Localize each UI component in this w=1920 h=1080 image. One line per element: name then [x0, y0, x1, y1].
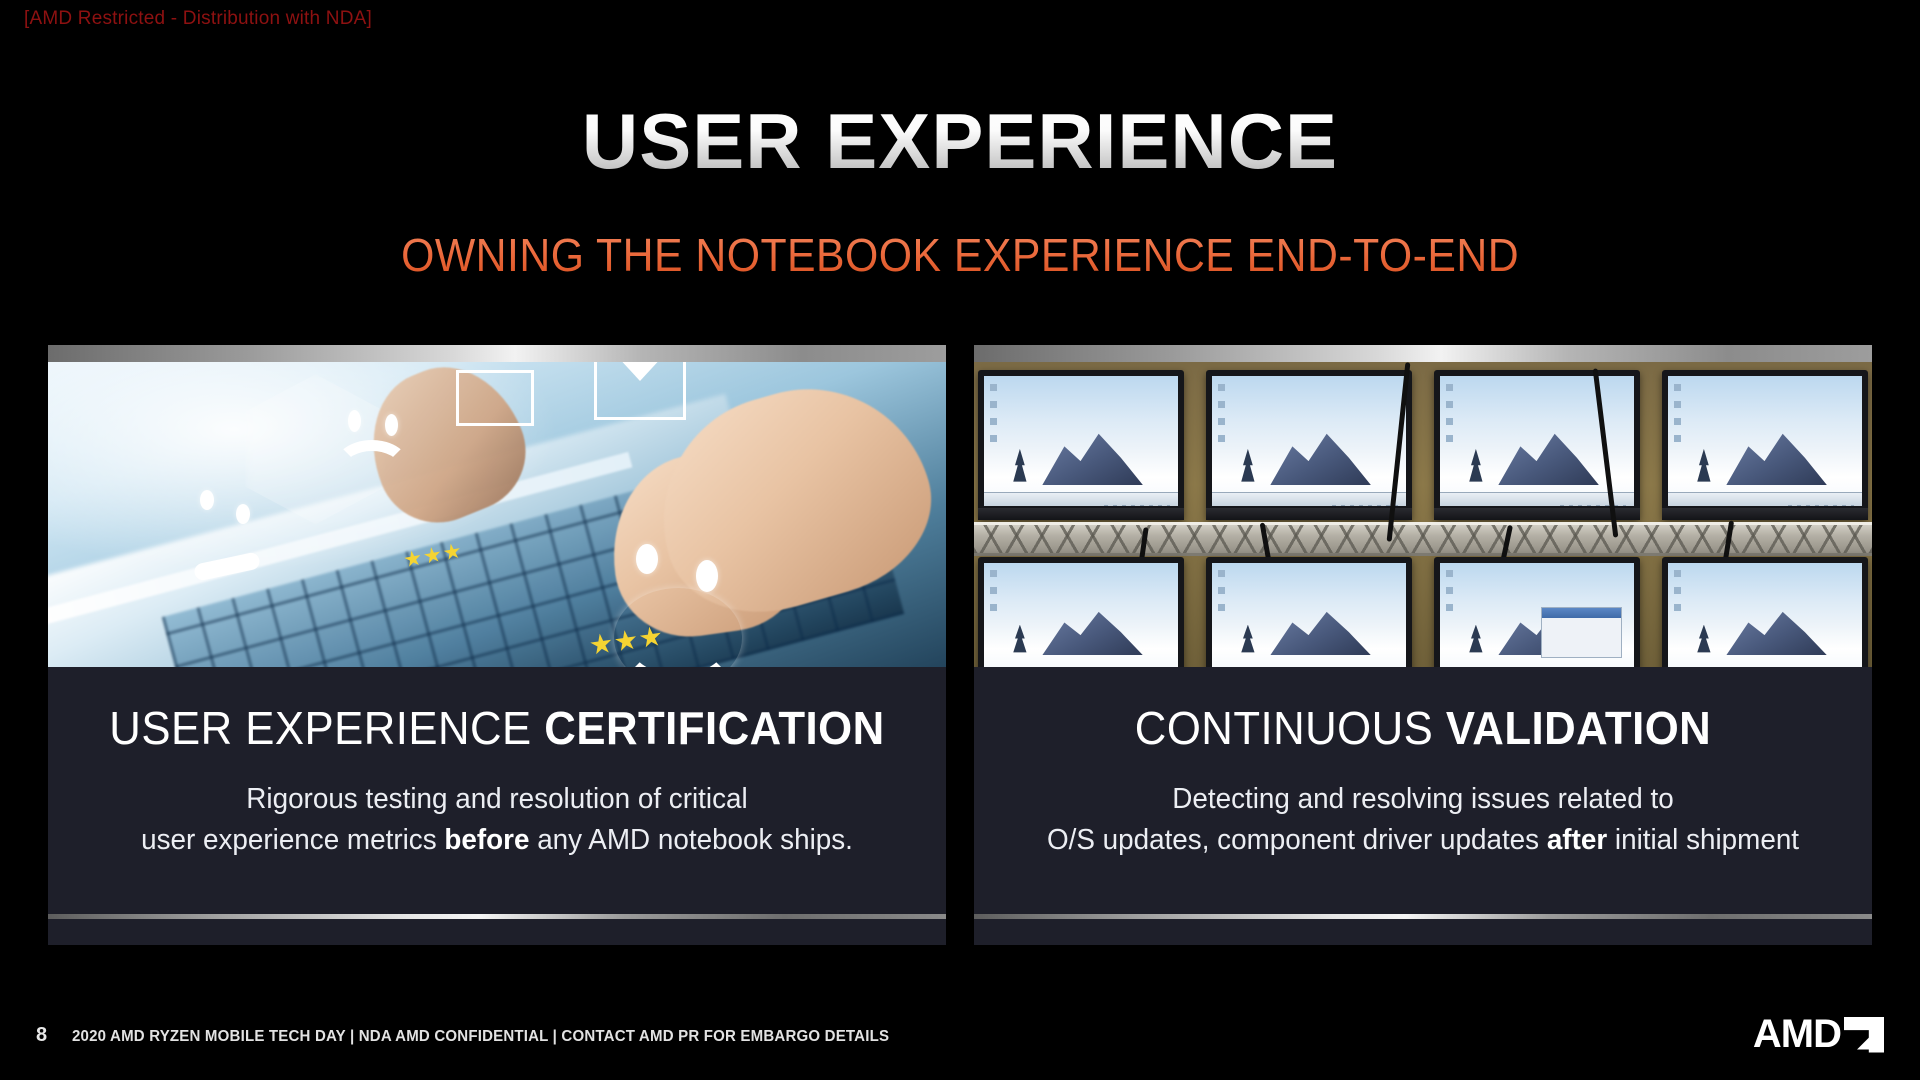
windows-taskbar — [1440, 492, 1634, 506]
card-desc-line2-a: user experience metrics — [141, 824, 444, 856]
desktop-icons — [990, 384, 997, 444]
laptop-screen — [1212, 376, 1406, 506]
card-desc-line1: Detecting and resolving issues related t… — [1172, 783, 1673, 815]
star-icon — [423, 546, 443, 566]
wallpaper-tree — [1239, 449, 1256, 488]
test-laptop — [1434, 557, 1640, 667]
amd-logo: AMD — [1753, 1012, 1884, 1057]
test-laptop — [978, 370, 1184, 520]
validation-photo — [974, 362, 1872, 667]
wallpaper-mountain — [1498, 428, 1599, 485]
laptop-row-top — [974, 370, 1872, 520]
windows-taskbar — [984, 492, 1178, 506]
windows-taskbar — [1668, 492, 1862, 506]
star-icon — [589, 632, 614, 657]
card-heading-light: CONTINUOUS — [1135, 702, 1446, 754]
desktop-icons — [1446, 570, 1453, 621]
wallpaper-mountain — [1042, 607, 1143, 655]
panel-outline-icon — [456, 370, 534, 426]
system-tray — [1104, 505, 1170, 506]
desktop-icons — [1674, 570, 1681, 621]
frown-mouth — [334, 440, 410, 494]
star-icon — [614, 629, 639, 654]
frown-eye-right — [385, 414, 398, 436]
test-laptop — [1662, 557, 1868, 667]
laptop-hinge — [978, 508, 1184, 520]
test-laptop — [978, 557, 1184, 667]
card-user-experience-certification: USER EXPERIENCE CERTIFICATION Rigorous t… — [48, 345, 946, 945]
wallpaper-tree — [1467, 449, 1484, 488]
test-laptop — [1206, 557, 1412, 667]
desktop-icons — [1674, 384, 1681, 444]
wallpaper-tree — [1695, 625, 1712, 658]
wallpaper-mountain — [1726, 428, 1827, 485]
card-top-accent-bar — [974, 345, 1872, 362]
dialog-window — [1541, 607, 1622, 658]
windows-taskbar — [1212, 492, 1406, 506]
test-laptop — [1206, 370, 1412, 520]
card-description: Detecting and resolving issues related t… — [1021, 779, 1825, 861]
card-description: Rigorous testing and resolution of criti… — [95, 779, 899, 861]
download-card-icon — [594, 362, 686, 420]
shelf-truss-structure — [974, 522, 1872, 556]
card-heading-light: USER EXPERIENCE — [109, 702, 544, 754]
page-title: USER EXPERIENCE — [582, 96, 1338, 187]
page-number: 8 — [36, 1024, 47, 1047]
certification-text-block: USER EXPERIENCE CERTIFICATION Rigorous t… — [48, 667, 946, 945]
card-bottom-accent-bar — [48, 914, 946, 919]
desktop-icons — [1446, 384, 1453, 444]
smile-eye-left — [636, 544, 658, 574]
lab-rack-photo-background — [974, 362, 1872, 667]
card-desc-line2-b: any AMD notebook ships. — [529, 824, 852, 856]
caret-down-icon — [616, 362, 664, 381]
card-top-accent-bar — [48, 345, 946, 362]
neutral-eye-right — [236, 504, 250, 524]
laptop-hinge — [1662, 508, 1868, 520]
neutral-eye-left — [200, 490, 214, 510]
smile-eye-right — [696, 560, 718, 592]
amd-arrow-mark-icon — [1844, 1017, 1884, 1053]
slide-footer: 8 2020 AMD RYZEN MOBILE TECH DAY | NDA A… — [0, 1018, 1920, 1058]
card-continuous-validation: CONTINUOUS VALIDATION Detecting and reso… — [974, 345, 1872, 945]
card-heading: CONTINUOUS VALIDATION — [1025, 701, 1821, 755]
card-heading-bold: VALIDATION — [1446, 702, 1711, 754]
laptop-screen — [984, 563, 1178, 667]
wallpaper-tree — [1239, 625, 1256, 658]
card-desc-emphasis: before — [444, 824, 529, 856]
system-tray — [1560, 505, 1626, 506]
certification-photo — [48, 362, 946, 667]
card-desc-line2-a: O/S updates, component driver updates — [1047, 824, 1547, 856]
keyboard-photo-background — [48, 362, 946, 667]
star-icon — [442, 542, 462, 562]
footer-disclaimer: 2020 AMD RYZEN MOBILE TECH DAY | NDA AMD… — [72, 1028, 889, 1046]
star-icon — [638, 625, 663, 650]
wallpaper-mountain — [1726, 607, 1827, 655]
wallpaper-tree — [1467, 625, 1484, 658]
card-desc-line1: Rigorous testing and resolution of criti… — [246, 783, 747, 815]
page-subtitle: OWNING THE NOTEBOOK EXPERIENCE END-TO-EN… — [401, 228, 1519, 282]
laptop-row-bottom — [974, 557, 1872, 667]
wallpaper-tree — [1011, 625, 1028, 658]
desktop-icons — [1218, 384, 1225, 444]
system-tray — [1332, 505, 1398, 506]
frown-eye-left — [348, 410, 361, 432]
wallpaper-tree — [1011, 449, 1028, 488]
card-container: USER EXPERIENCE CERTIFICATION Rigorous t… — [0, 345, 1920, 945]
card-bottom-accent-bar — [974, 914, 1872, 919]
card-heading-bold: CERTIFICATION — [544, 702, 884, 754]
title-block: USER EXPERIENCE — [0, 96, 1920, 187]
laptop-screen — [1668, 376, 1862, 506]
laptop-hinge — [1206, 508, 1412, 520]
wallpaper-mountain — [1270, 428, 1371, 485]
validation-text-block: CONTINUOUS VALIDATION Detecting and reso… — [974, 667, 1872, 945]
rack-shelf — [974, 522, 1872, 556]
star-icon — [403, 549, 423, 569]
card-heading: USER EXPERIENCE CERTIFICATION — [99, 701, 895, 755]
subtitle-block: OWNING THE NOTEBOOK EXPERIENCE END-TO-EN… — [0, 228, 1920, 282]
classification-banner: [AMD Restricted - Distribution with NDA] — [24, 8, 372, 30]
wallpaper-tree — [1695, 449, 1712, 488]
slide: [AMD Restricted - Distribution with NDA]… — [0, 0, 1920, 1080]
card-desc-line2-b: initial shipment — [1607, 824, 1799, 856]
test-laptop — [1662, 370, 1868, 520]
amd-wordmark: AMD — [1753, 1012, 1841, 1057]
desktop-icons — [1218, 570, 1225, 621]
card-desc-emphasis: after — [1547, 824, 1607, 856]
wallpaper-mountain — [1042, 428, 1143, 485]
laptop-screen — [1212, 563, 1406, 667]
system-tray — [1788, 505, 1854, 506]
desktop-icons — [990, 570, 997, 621]
wallpaper-mountain — [1270, 607, 1371, 655]
laptop-screen — [984, 376, 1178, 506]
laptop-screen — [1440, 563, 1634, 667]
laptop-screen — [1668, 563, 1862, 667]
